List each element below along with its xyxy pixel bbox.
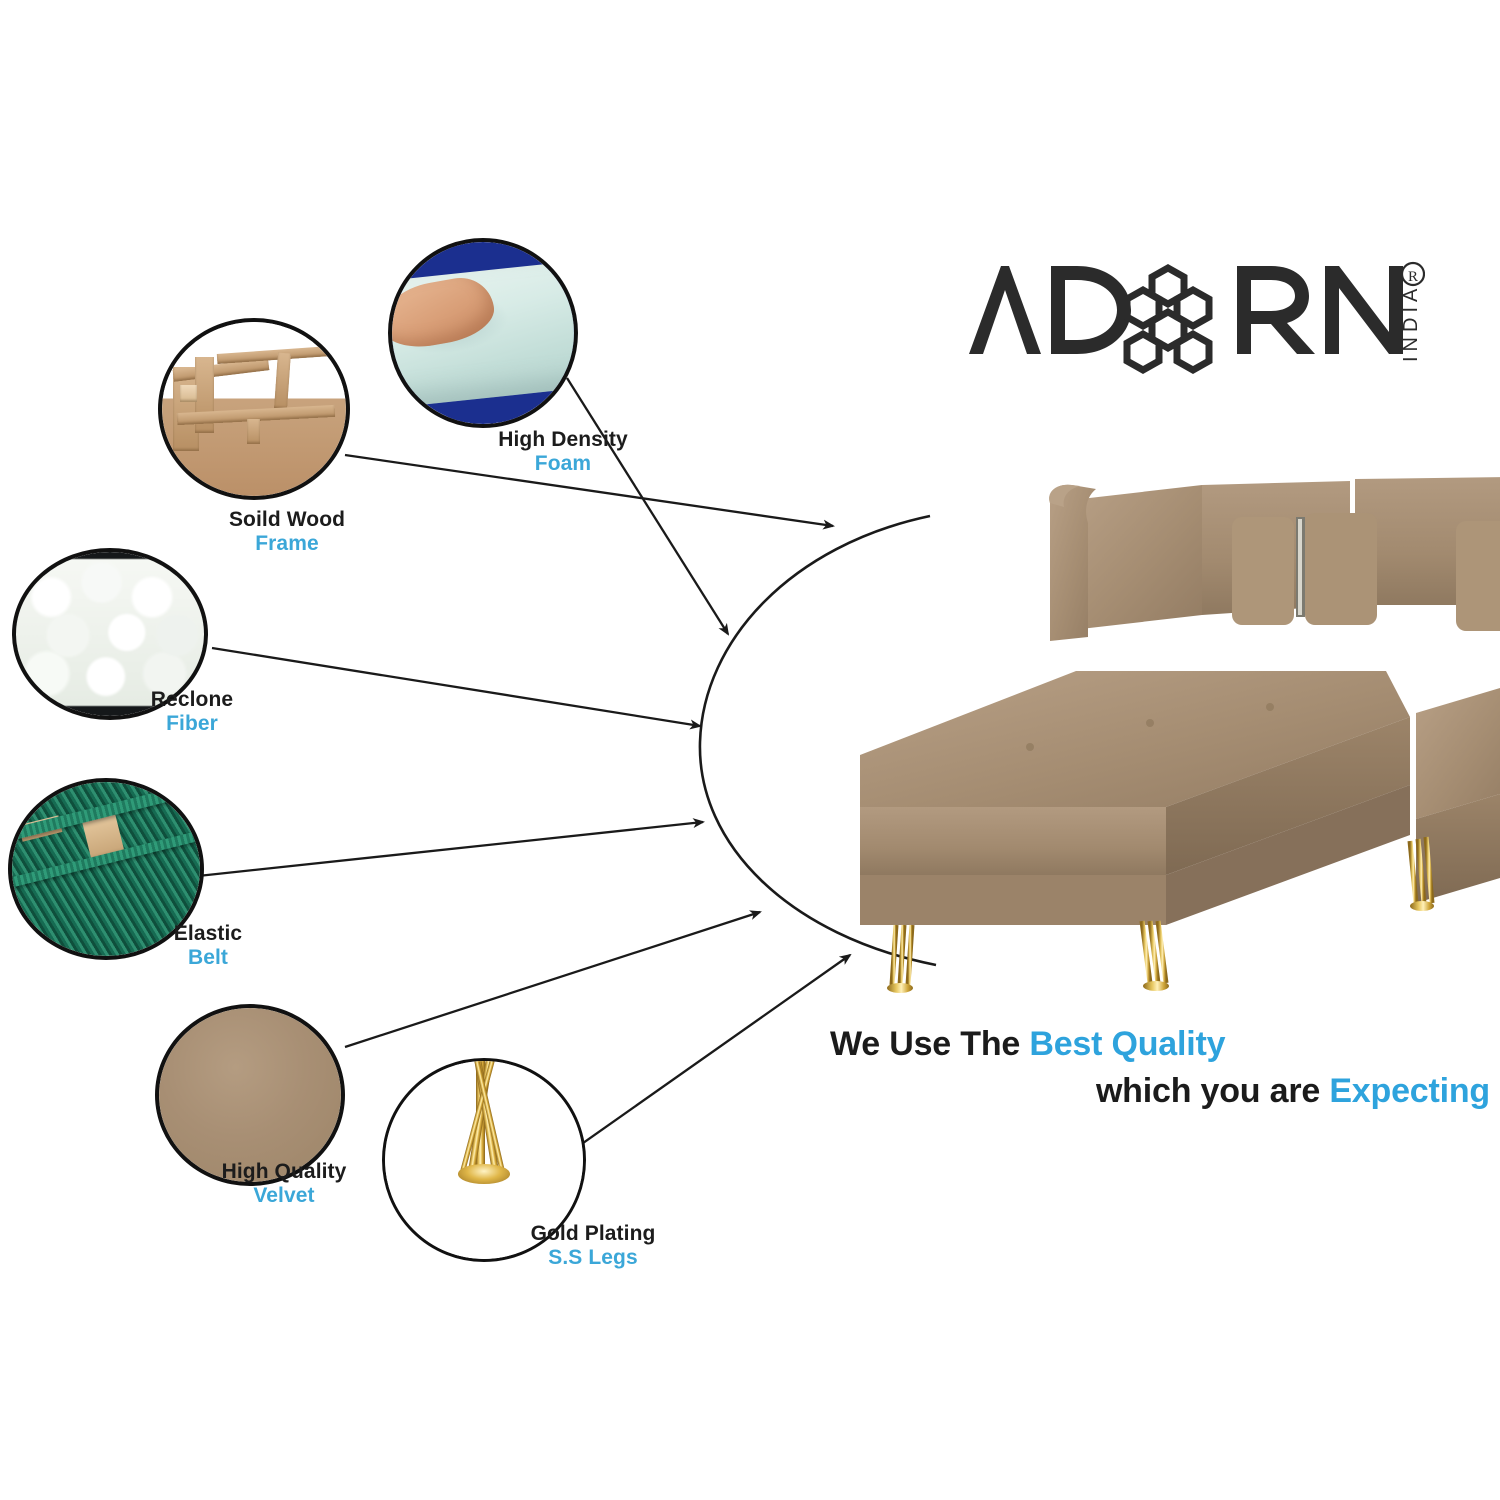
high-quality-velvet-label-line1: High Quality [188,1160,380,1184]
high-density-foam-label: High Density Foam [468,428,658,475]
tagline-line2-plain: which you are [1096,1072,1329,1110]
high-density-foam-label-line2: Foam [468,452,658,476]
solid-wood-frame-label: Soild Wood Frame [192,508,382,555]
solid-wood-frame-label-line2: Frame [192,532,382,556]
infographic-canvas: Soild Wood Frame High Density Foam [0,0,1500,1500]
logo-india-text: INDIA [1400,284,1422,362]
tagline-line1-accent: Best Quality [1029,1025,1225,1063]
tagline: We Use The Best Quality which you are Ex… [830,1025,1490,1111]
solid-wood-frame-image [158,318,350,500]
gold-plating-ss-legs-label: Gold Plating S.S Legs [498,1222,688,1269]
hexagon-cluster-icon [1127,268,1209,370]
arrow-high-density-foam [567,378,728,634]
gold-plating-ss-legs-label-line2: S.S Legs [498,1246,688,1270]
brand-logo: INDIA R [965,250,1425,380]
high-quality-velvet-image [155,1004,345,1186]
product-image-sectional-sofa [850,455,1500,995]
solid-wood-frame-label-line1: Soild Wood [192,508,382,532]
tagline-line1-plain: We Use The [830,1025,1029,1063]
svg-text:R: R [1408,269,1418,285]
high-quality-velvet-label: High Quality Velvet [188,1160,380,1207]
tagline-line2-accent: Expecting [1329,1072,1490,1110]
elastic-belt-label-line1: Elastic [118,922,298,946]
tagline-line2: which you are Expecting [830,1072,1490,1111]
arrow-gold-plating-ss-legs [576,955,850,1148]
reclone-fiber-label-line2: Fiber [102,712,282,736]
elastic-belt-label-line2: Belt [118,946,298,970]
arrow-reclone-fiber [212,648,700,726]
high-quality-velvet-label-line2: Velvet [188,1184,380,1208]
high-density-foam-image [388,238,578,428]
gold-plating-ss-legs-label-line1: Gold Plating [498,1222,688,1246]
reclone-fiber-label: Reclone Fiber [102,688,282,735]
arrow-elastic-belt [198,822,703,876]
high-density-foam-label-line1: High Density [468,428,658,452]
reclone-fiber-label-line1: Reclone [102,688,282,712]
tagline-line1: We Use The Best Quality [830,1025,1490,1064]
registered-trademark-icon: R [1402,263,1424,285]
arrow-high-quality-velvet [345,912,760,1047]
elastic-belt-label: Elastic Belt [118,922,298,969]
